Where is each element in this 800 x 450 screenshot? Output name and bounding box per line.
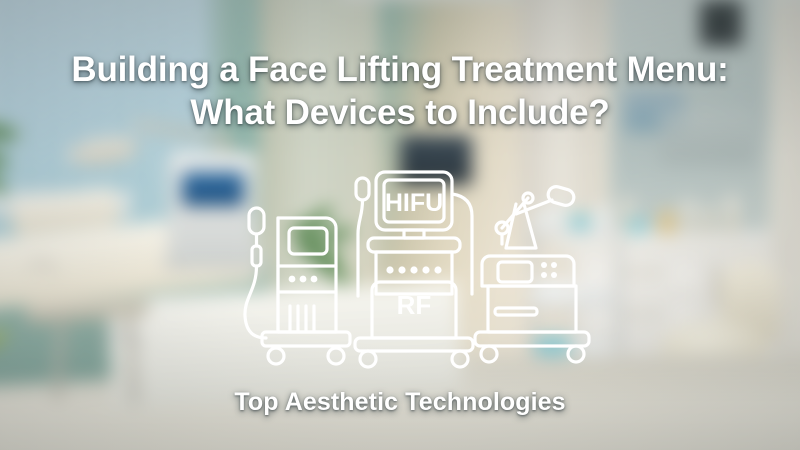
page-title: Building a Face Lifting Treatment Menu: … (0, 48, 800, 134)
articulated-arm-device-icon (475, 185, 589, 362)
rf-body-label: RF (397, 290, 432, 320)
title-line-2: What Devices to Include? (20, 91, 780, 134)
device-icon-group: HIFU RF (240, 170, 580, 366)
title-line-1: Building a Face Lifting Treatment Menu: (71, 50, 728, 89)
hifu-rf-device-icon: HIFU RF (355, 172, 473, 367)
laser-device-icon (245, 208, 350, 364)
page-subtitle: Top Aesthetic Technologies (0, 388, 800, 417)
hifu-screen-label: HIFU (385, 189, 443, 217)
banner-image: HIFU RF (0, 0, 800, 450)
